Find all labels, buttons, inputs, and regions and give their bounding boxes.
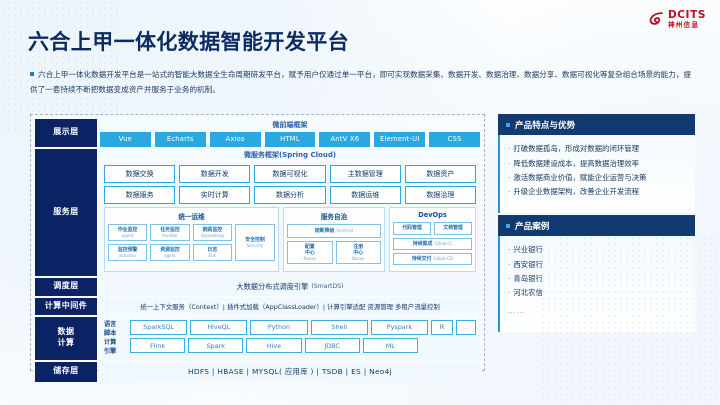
- ops-cell[interactable]: 日志 ELK: [193, 244, 232, 261]
- ops-cell-en: actuator: [110, 253, 145, 258]
- module-card[interactable]: 主数据管理: [330, 165, 401, 183]
- tech-tag[interactable]: AntV X6: [319, 132, 370, 147]
- case-item: ·兴业银行: [508, 243, 687, 257]
- governance-caption: 服务自治: [287, 210, 381, 224]
- intro-text: 六合上甲一体化数据开发平台是一站式的智能大数据全生命周期研发平台，赋予用户仅通过…: [30, 70, 691, 94]
- engine-row-spacer: [421, 338, 476, 353]
- case-item: ·河北农信: [508, 286, 687, 300]
- layer-middleware: 计算中间件 统一上下文服务（Context）| 插件式加载（AppClassLo…: [35, 298, 480, 317]
- module-row-1: 数据交换 数据开发 数据可视化 主数据管理 数据资产: [104, 165, 476, 183]
- schedule-engine-row: 大数据分布式调度引擎 (SmartDS): [100, 278, 480, 296]
- micro-frontend-caption: 微前端框架: [100, 119, 480, 132]
- storage-text: HDFS | HBASE | MYSQL( 应用库 ) | TSDB | ES …: [100, 362, 480, 382]
- feature-text: 打破数据孤岛，形成对数据的闭环管理: [513, 144, 639, 153]
- ci-cn: 持续集成: [413, 241, 433, 247]
- case-item: ·青岛银行: [508, 271, 687, 285]
- layer-compute: 数据计算 语言 脚本 计算 引擎 SparkSQL HiveQL Python: [35, 317, 480, 362]
- layer-label-schedule: 调度层: [35, 278, 97, 296]
- engine-row: Flink Spark Hive JDBC ML: [130, 338, 476, 353]
- brand-logo: DCITS 神州信息: [647, 10, 706, 28]
- code-management-cell[interactable]: 代码管理: [393, 222, 431, 235]
- microservice-caption: 微服务框架(Spring Cloud): [100, 149, 480, 162]
- engine-chip[interactable]: ML: [363, 338, 418, 353]
- ops-cell[interactable]: 监控预警 actuator: [108, 244, 147, 261]
- config-en: Nacos: [289, 256, 331, 261]
- architecture-diagram: 展示层 微前端框架 Vue Echarts Axios HTML AntV X6…: [30, 114, 485, 371]
- script-chip[interactable]: Shell: [311, 320, 368, 335]
- slide-root: DCITS 神州信息 六合上甲一体化数据智能开发平台 六合上甲一体化数据开发平台…: [0, 0, 720, 405]
- tech-tag[interactable]: CSS: [429, 132, 480, 147]
- features-title: 产品特点与优势: [515, 119, 575, 131]
- doc-management-label: 文档管理: [436, 225, 470, 231]
- feature-text: 激活数据商业价值，赋能企业运营与决策: [513, 173, 646, 182]
- schedule-engine-code: (SmartDS): [311, 283, 343, 290]
- module-card[interactable]: 数据分析: [254, 186, 325, 204]
- script-chip[interactable]: Python: [250, 320, 307, 335]
- module-card[interactable]: 数据治理: [405, 186, 476, 204]
- page-title: 六合上甲一体化数据智能开发平台: [28, 26, 349, 56]
- ops-cell[interactable]: 作业监控 agent: [108, 224, 147, 241]
- side-label-language: 语言: [104, 321, 126, 330]
- intro-paragraph: 六合上甲一体化数据开发平台是一站式的智能大数据全生命周期研发平台，赋予用户仅通过…: [30, 68, 692, 98]
- tech-tag[interactable]: Axios: [210, 132, 261, 147]
- engine-chip[interactable]: JDBC: [305, 338, 360, 353]
- registry-en: Nacos: [338, 256, 380, 261]
- dot-icon: ·: [508, 159, 510, 168]
- tech-tag[interactable]: Echarts: [155, 132, 206, 147]
- side-label-script: 脚本: [104, 330, 126, 339]
- tech-tag[interactable]: Vue: [100, 132, 151, 147]
- case-text: 兴业银行: [513, 245, 543, 254]
- module-card[interactable]: 数据交换: [104, 165, 175, 183]
- ops-cell-en: Skywalking: [195, 233, 230, 238]
- config-center-cell[interactable]: 配置 中心 Nacos: [287, 241, 333, 264]
- script-chip-more[interactable]: …: [456, 320, 476, 335]
- layer-label-service: 服务层: [35, 149, 97, 276]
- module-card[interactable]: 数据开发: [179, 165, 250, 183]
- ops-cell[interactable]: 链路监控 Skywalking: [193, 224, 232, 241]
- tech-tag[interactable]: HTML: [265, 132, 316, 147]
- compute-label-line1: 数据: [58, 327, 75, 336]
- layer-storage: 储存层 HDFS | HBASE | MYSQL( 应用库 ) | TSDB |…: [35, 362, 480, 382]
- schedule-engine-label: 大数据分布式调度引擎: [236, 282, 308, 292]
- group-devops: DevOps 代码管理 文档管理 持续集成: [389, 207, 476, 272]
- ops-cell[interactable]: 任务监控 monitor: [150, 224, 189, 241]
- feature-item: ·降低数据建设成本，提高数据治理效率: [508, 156, 687, 170]
- ops-cell-en: monitor: [152, 233, 187, 238]
- module-card[interactable]: 数据运维: [330, 186, 401, 204]
- middleware-text: 统一上下文服务（Context）| 插件式加载（AppClassLoader）|…: [140, 302, 440, 311]
- dot-icon: ·: [508, 245, 510, 254]
- module-card[interactable]: 数据资产: [405, 165, 476, 183]
- ops-cell-en: ELK: [195, 253, 230, 258]
- layer-schedule: 调度层 大数据分布式调度引擎 (SmartDS): [35, 278, 480, 298]
- ops-cell-en: agent: [110, 233, 145, 238]
- fuse-en: Sentinel: [336, 228, 353, 233]
- case-item-more: ……: [508, 300, 687, 318]
- case-text: 河北农信: [513, 288, 543, 297]
- brand-name-en: DCITS: [668, 10, 706, 21]
- feature-text: 降低数据建设成本，提高数据治理效率: [513, 159, 639, 168]
- module-row-2: 数据服务 实时计算 数据分析 数据运维 数据治理: [104, 186, 476, 204]
- cd-en: Gitlab-CD: [433, 256, 453, 261]
- dot-icon: ·: [508, 187, 510, 196]
- feature-item: ·打破数据孤岛，形成对数据的闭环管理: [508, 142, 687, 156]
- feature-text: 升级企业数据架构，改善企业开发流程: [513, 187, 639, 196]
- dot-icon: ·: [508, 173, 510, 182]
- cases-header: 产品案例: [498, 215, 695, 236]
- continuous-delivery-cell[interactable]: 持续交付 Gitlab-CD: [393, 253, 472, 265]
- presentation-tag-row: Vue Echarts Axios HTML AntV X6 Element-U…: [100, 132, 480, 147]
- fuse-cn: 熔断降级: [315, 228, 335, 234]
- script-chip[interactable]: R: [431, 320, 453, 335]
- engine-chip[interactable]: Flink: [130, 338, 185, 353]
- compute-side-labels: 语言 脚本 计算 引擎: [104, 320, 126, 357]
- bullet-square-icon: [506, 123, 510, 127]
- cases-title: 产品案例: [515, 220, 549, 232]
- bullet-square-icon: [30, 72, 34, 76]
- doc-management-cell[interactable]: 文档管理: [434, 222, 472, 235]
- module-card[interactable]: 数据服务: [104, 186, 175, 204]
- dot-icon: ·: [508, 288, 510, 297]
- panel-cases: 产品案例 ·兴业银行 ·西安银行 ·青岛银行 ·河北农信 ……: [498, 215, 695, 332]
- layer-label-storage: 储存层: [35, 362, 97, 382]
- case-text: 青岛银行: [513, 274, 543, 283]
- layer-label-compute: 数据计算: [35, 317, 97, 360]
- bullet-square-icon: [506, 224, 510, 228]
- group-service-governance: 服务自治 熔断降级 Sentinel 配置 中心 Nacos: [283, 207, 385, 272]
- engine-chip[interactable]: Hive: [246, 338, 301, 353]
- ci-en: Gitlab-CI: [434, 241, 452, 246]
- side-label-compute: 计算: [104, 339, 126, 348]
- middleware-text-row: 统一上下文服务（Context）| 插件式加载（AppClassLoader）|…: [100, 298, 480, 315]
- script-row: SparkSQL HiveQL Python Shell Pyspark R …: [130, 320, 476, 335]
- panel-features: 产品特点与优势 ·打破数据孤岛，形成对数据的闭环管理 ·降低数据建设成本，提高数…: [498, 114, 695, 213]
- case-text: 西安银行: [513, 260, 543, 269]
- dot-icon: ·: [508, 274, 510, 283]
- feature-item: ·激活数据商业价值，赋能企业运营与决策: [508, 170, 687, 184]
- tech-tag[interactable]: Element-UI: [374, 132, 425, 147]
- ops-cell-en: agent: [152, 253, 187, 258]
- features-header: 产品特点与优势: [498, 114, 695, 135]
- brand-name-cn: 神州信息: [668, 22, 706, 29]
- fuse-degrade-cell[interactable]: 熔断降级 Sentinel: [287, 224, 381, 238]
- feature-item: ·升级企业数据架构，改善企业开发流程: [508, 185, 687, 199]
- security-en: Security: [237, 243, 273, 248]
- code-management-label: 代码管理: [395, 225, 429, 231]
- layer-label-presentation: 展示层: [35, 119, 97, 147]
- module-card[interactable]: 实时计算: [179, 186, 250, 204]
- case-item: ·西安银行: [508, 257, 687, 271]
- ops-cell[interactable]: 资源监控 agent: [150, 244, 189, 261]
- security-control-cell[interactable]: 安全控制 Security: [235, 224, 275, 261]
- dcits-swirl-icon: [647, 11, 664, 28]
- script-chip[interactable]: HiveQL: [190, 320, 247, 335]
- compute-label-line2: 计算: [58, 338, 75, 347]
- unified-ops-caption: 统一运维: [108, 210, 275, 224]
- layer-label-middleware: 计算中间件: [35, 298, 97, 315]
- devops-caption: DevOps: [393, 210, 472, 222]
- script-chip[interactable]: SparkSQL: [130, 320, 187, 335]
- cd-cn: 持续交付: [412, 256, 432, 262]
- dot-icon: ·: [508, 144, 510, 153]
- side-label-engine: 引擎: [104, 348, 126, 357]
- continuous-integration-cell[interactable]: 持续集成 Gitlab-CI: [393, 238, 472, 250]
- group-unified-ops: 统一运维 作业监控 agent 监控预警 actuator: [104, 207, 279, 272]
- layer-service: 服务层 微服务框架(Spring Cloud) 数据交换 数据开发 数据可视化 …: [35, 149, 480, 278]
- layer-presentation: 展示层 微前端框架 Vue Echarts Axios HTML AntV X6…: [35, 119, 480, 149]
- engine-chip[interactable]: Spark: [188, 338, 243, 353]
- script-chip[interactable]: Pyspark: [371, 320, 428, 335]
- registry-center-cell[interactable]: 注册 中心 Nacos: [336, 241, 382, 264]
- module-card[interactable]: 数据可视化: [254, 165, 325, 183]
- dot-icon: ·: [508, 260, 510, 269]
